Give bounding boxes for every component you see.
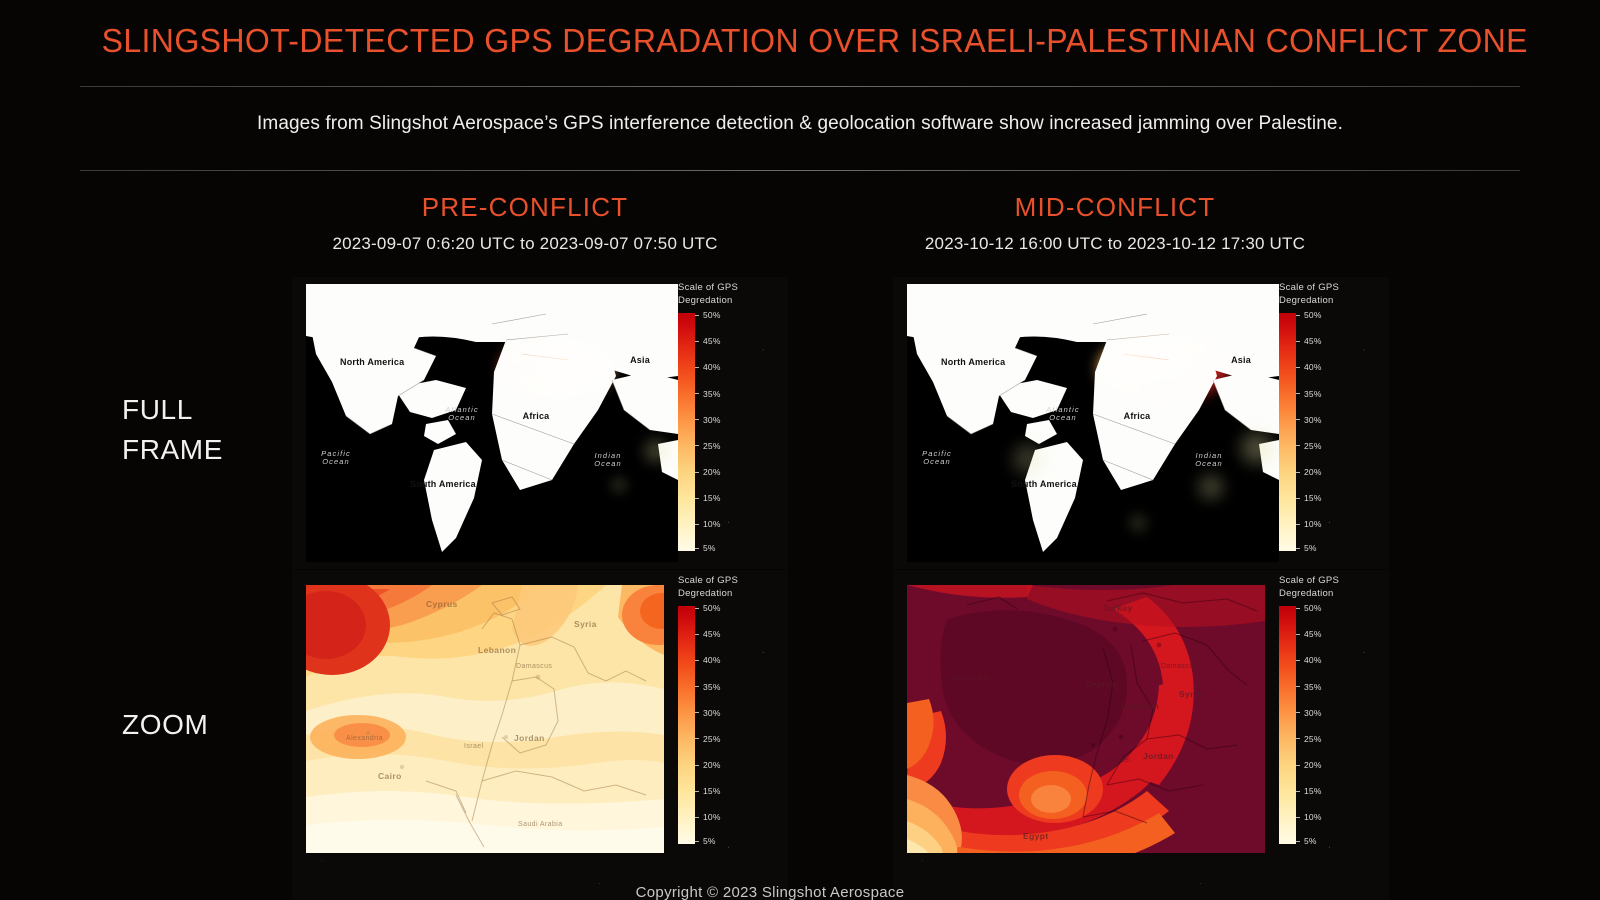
glow-indian-ocean <box>1189 468 1233 506</box>
colorbar-tick: 40% <box>1304 362 1322 372</box>
panel-mid-conflict-full-frame: North America South America Africa Asia … <box>893 277 1389 569</box>
colorbar-pre-conflict-zoom: Scale of GPS Degredation 50% 45% 40% 35%… <box>678 575 740 844</box>
panel-pre-conflict-full-frame: North America South America Africa Asia … <box>292 277 788 569</box>
colorbar-ticks: 50% 45% 40% 35% 30% 25% 20% 15% 10% 5% <box>695 606 739 844</box>
colorbar-title: Scale of GPS Degredation <box>678 282 740 308</box>
glow-south-america <box>1003 436 1053 482</box>
colorbar-tick: 25% <box>1304 441 1322 451</box>
colorbar-title-line1: Scale of GPS <box>678 282 740 295</box>
colorbar-tick: 10% <box>1304 812 1322 822</box>
region-heatmap-pre <box>306 585 664 853</box>
colorbar-tick: 40% <box>1304 655 1322 665</box>
colorbar-tick: 45% <box>1304 629 1322 639</box>
colorbar-tick: 40% <box>703 362 721 372</box>
region-map-pre-conflict: Cyprus Syria Lebanon Damascus Jordan Isr… <box>306 585 664 853</box>
colorbar-tick: 45% <box>703 629 721 639</box>
colorbar-mid-conflict-zoom: Scale of GPS Degredation 50% 45% 40% 35%… <box>1279 575 1341 844</box>
colorbar-gradient <box>678 606 695 844</box>
page-subtitle: Images from Slingshot Aerospace’s GPS in… <box>80 113 1520 135</box>
column-timerange-mid-conflict: 2023-10-12 16:00 UTC to 2023-10-12 17:30… <box>835 234 1395 254</box>
column-title-pre-conflict: PRE-CONFLICT <box>245 192 805 223</box>
colorbar-tick: 10% <box>703 519 721 529</box>
colorbar-title-line1: Scale of GPS <box>678 575 740 588</box>
colorbar-tick: 20% <box>703 760 721 770</box>
colorbar-title: Scale of GPS Degredation <box>1279 575 1341 601</box>
world-landmass-shapes <box>306 284 678 562</box>
colorbar-tick: 20% <box>1304 760 1322 770</box>
glow-south-asia <box>636 434 676 468</box>
colorbar-tick: 45% <box>1304 336 1322 346</box>
colorbar-title: Scale of GPS Degredation <box>1279 282 1341 308</box>
colorbar-tick: 35% <box>1304 389 1322 399</box>
glow-southern-africa <box>1123 510 1153 536</box>
colorbar-tick: 5% <box>703 836 716 846</box>
copyright-notice: Copyright © 2023 Slingshot Aerospace <box>0 884 1600 900</box>
colorbar-gradient <box>1279 606 1296 844</box>
colorbar-tick: 50% <box>1304 310 1322 320</box>
colorbar-ticks: 50% 45% 40% 35% 30% 25% 20% 15% 10% 5% <box>1296 606 1340 844</box>
divider-top <box>80 86 1520 87</box>
colorbar-tick: 25% <box>703 441 721 451</box>
infographic-page: SLINGSHOT-DETECTED GPS DEGRADATION OVER … <box>0 0 1600 900</box>
divider-bottom <box>80 170 1520 171</box>
colorbar-tick: 15% <box>1304 493 1322 503</box>
colorbar-tick: 15% <box>1304 786 1322 796</box>
colorbar-ticks: 50% 45% 40% 35% 30% 25% 20% 15% 10% 5% <box>695 313 739 551</box>
colorbar-tick: 5% <box>703 543 716 553</box>
colorbar-title-line2: Degredation <box>678 588 740 601</box>
colorbar-tick: 10% <box>1304 519 1322 529</box>
colorbar-title-line1: Scale of GPS <box>1279 282 1341 295</box>
colorbar-tick: 40% <box>703 655 721 665</box>
row-label-full-frame-line1: FULL <box>122 390 223 430</box>
colorbar-tick: 45% <box>703 336 721 346</box>
column-title-mid-conflict: MID-CONFLICT <box>835 192 1395 223</box>
row-label-full-frame: FULL FRAME <box>122 390 223 470</box>
colorbar-body: 50% 45% 40% 35% 30% 25% 20% 15% 10% 5% <box>678 606 740 844</box>
colorbar-tick: 35% <box>1304 682 1322 692</box>
colorbar-tick: 20% <box>703 467 721 477</box>
jamming-hotspot-pre-secondary <box>528 346 602 386</box>
colorbar-tick: 10% <box>703 812 721 822</box>
region-heatmap-mid <box>907 585 1265 853</box>
region-map-mid-conflict: Turkey Cyprus Lebanon Syria Damascus Jor… <box>907 585 1265 853</box>
colorbar-tick: 5% <box>1304 543 1317 553</box>
column-header-pre-conflict: PRE-CONFLICT 2023-09-07 0:6:20 UTC to 20… <box>245 192 805 254</box>
glow-indian-ocean <box>606 474 632 496</box>
row-label-zoom: ZOOM <box>122 705 208 745</box>
colorbar-tick: 35% <box>703 389 721 399</box>
page-title: SLINGSHOT-DETECTED GPS DEGRADATION OVER … <box>102 22 1499 60</box>
colorbar-title-line1: Scale of GPS <box>1279 575 1341 588</box>
colorbar-gradient <box>1279 313 1296 551</box>
colorbar-gradient <box>678 313 695 551</box>
colorbar-tick: 30% <box>1304 415 1322 425</box>
colorbar-tick: 5% <box>1304 836 1317 846</box>
column-header-mid-conflict: MID-CONFLICT 2023-10-12 16:00 UTC to 202… <box>835 192 1395 254</box>
world-landmass-shapes <box>907 284 1279 562</box>
colorbar-tick: 25% <box>1304 734 1322 744</box>
panel-mid-conflict-zoom: Turkey Cyprus Lebanon Syria Damascus Jor… <box>893 570 1389 900</box>
colorbar-body: 50% 45% 40% 35% 30% 25% 20% 15% 10% 5% <box>1279 313 1341 551</box>
glow-south-asia <box>1231 424 1279 472</box>
colorbar-tick: 15% <box>703 493 721 503</box>
jamming-hotspot-mid-secondary <box>1107 342 1199 386</box>
colorbar-tick: 25% <box>703 734 721 744</box>
colorbar-tick: 35% <box>703 682 721 692</box>
colorbar-tick: 15% <box>703 786 721 796</box>
world-map-pre-conflict: North America South America Africa Asia … <box>306 284 678 562</box>
colorbar-tick: 20% <box>1304 467 1322 477</box>
colorbar-pre-conflict-full-frame: Scale of GPS Degredation 50% 45% 40% 35%… <box>678 282 740 551</box>
column-timerange-pre-conflict: 2023-09-07 0:6:20 UTC to 2023-09-07 07:5… <box>245 234 805 254</box>
colorbar-mid-conflict-full-frame: Scale of GPS Degredation 50% 45% 40% 35%… <box>1279 282 1341 551</box>
colorbar-title: Scale of GPS Degredation <box>678 575 740 601</box>
colorbar-title-line2: Degredation <box>678 295 740 308</box>
colorbar-tick: 30% <box>1304 708 1322 718</box>
colorbar-tick: 50% <box>703 310 721 320</box>
colorbar-title-line2: Degredation <box>1279 295 1341 308</box>
panel-pre-conflict-zoom: Cyprus Syria Lebanon Damascus Jordan Isr… <box>292 570 788 900</box>
row-label-full-frame-line2: FRAME <box>122 430 223 470</box>
colorbar-tick: 30% <box>703 708 721 718</box>
colorbar-ticks: 50% 45% 40% 35% 30% 25% 20% 15% 10% 5% <box>1296 313 1340 551</box>
colorbar-tick: 50% <box>703 603 721 613</box>
colorbar-tick: 50% <box>1304 603 1322 613</box>
colorbar-body: 50% 45% 40% 35% 30% 25% 20% 15% 10% 5% <box>1279 606 1341 844</box>
colorbar-body: 50% 45% 40% 35% 30% 25% 20% 15% 10% 5% <box>678 313 740 551</box>
colorbar-title-line2: Degredation <box>1279 588 1341 601</box>
colorbar-tick: 30% <box>703 415 721 425</box>
world-map-mid-conflict: North America South America Africa Asia … <box>907 284 1279 562</box>
